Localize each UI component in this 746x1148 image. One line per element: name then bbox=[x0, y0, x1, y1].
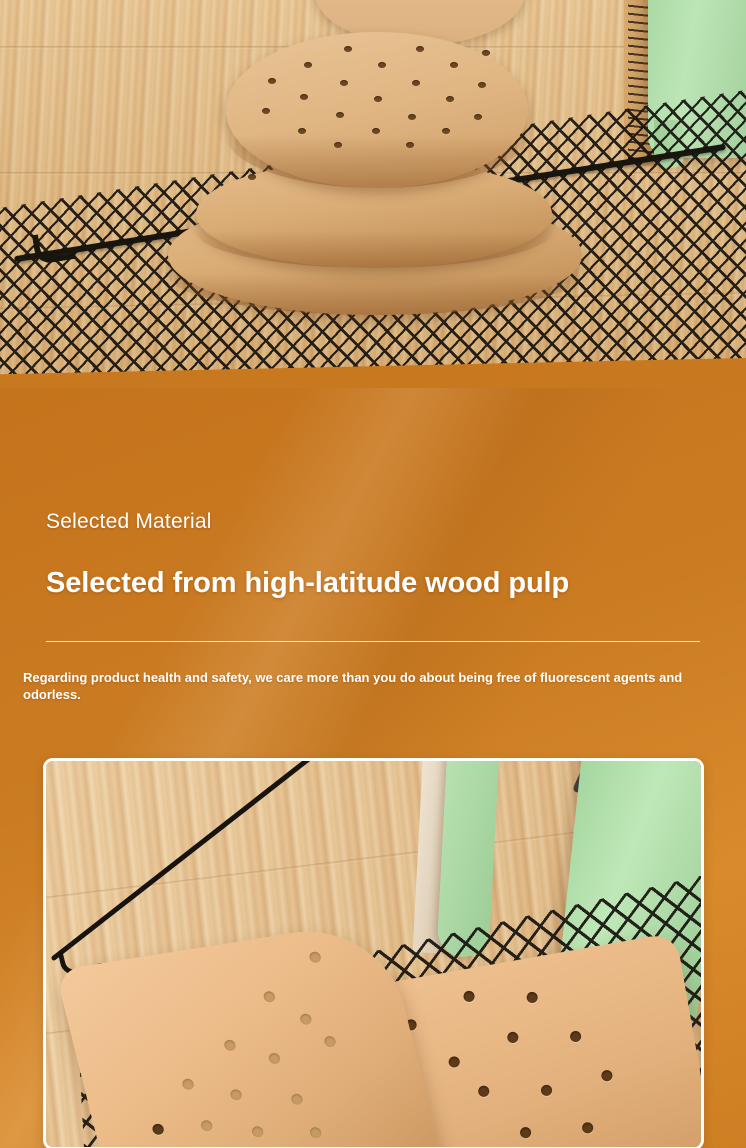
bottom-product-photo-frame bbox=[43, 758, 704, 1148]
section-divider bbox=[46, 641, 700, 642]
hero-product-photo bbox=[0, 0, 746, 396]
product-detail-page: Selected Material Selected from high-lat… bbox=[0, 0, 746, 1148]
section-eyebrow: Selected Material bbox=[46, 510, 212, 534]
section-headline: Selected from high-latitude wood pulp bbox=[46, 567, 569, 600]
section-body-text: Regarding product health and safety, we … bbox=[23, 669, 723, 703]
bottom-product-photo bbox=[46, 761, 701, 1147]
parchment-disc-top bbox=[226, 32, 528, 188]
